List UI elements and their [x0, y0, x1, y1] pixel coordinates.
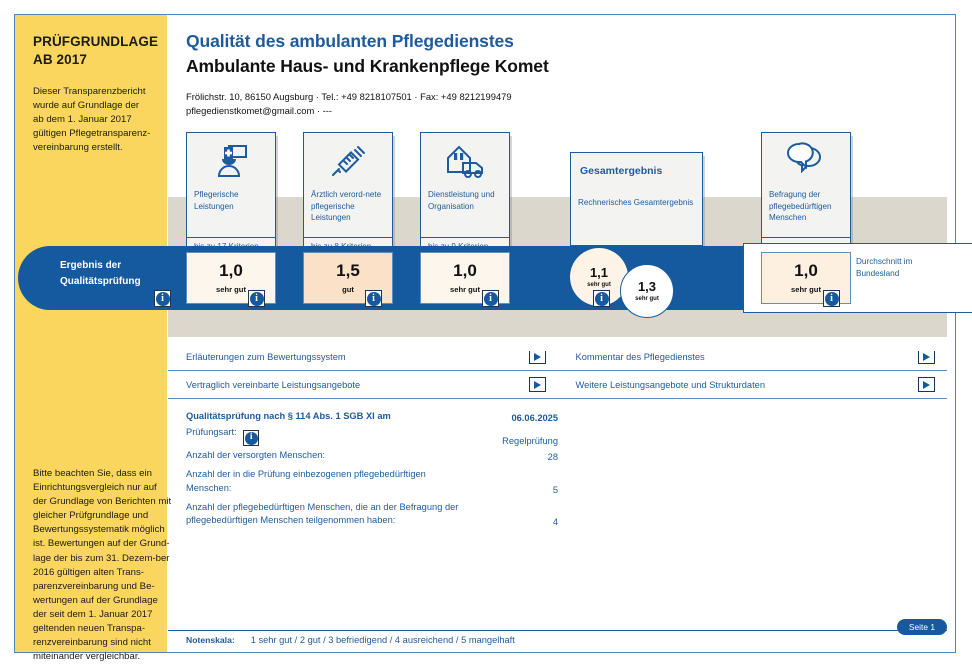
- result-bar-label: Ergebnis der Qualitätsprüfung: [60, 258, 180, 290]
- category-card-dienstleistung[interactable]: Dienstleistung und Organisation bis zu 9…: [420, 132, 510, 256]
- email-line: pflegedienstkomet@gmail.com · ---: [186, 104, 957, 118]
- score-value: 1,0: [453, 262, 477, 279]
- sidebar-title-line2: AB 2017: [33, 51, 151, 69]
- overall-value: 1,1: [590, 266, 608, 279]
- info-icon-bar[interactable]: i: [154, 290, 171, 307]
- house-van-icon: [421, 133, 509, 189]
- info-glyph: i: [595, 292, 609, 306]
- info-glyph: i: [156, 292, 170, 306]
- card-label: Ärztlich verord-nete pflegerische Leistu…: [304, 189, 392, 237]
- sidebar-title-line1: PRÜFGRUNDLAGE: [33, 33, 151, 51]
- sidebar-title: PRÜFGRUNDLAGE AB 2017: [33, 33, 151, 69]
- info-icon-pruefungsart[interactable]: i: [243, 430, 259, 446]
- link-label: Erläuterungen zum Bewertungssystem: [186, 352, 529, 362]
- detail-key: Anzahl der in die Prüfung einbezogenen p…: [186, 468, 466, 494]
- table-row: Qualitätsprüfung nach § 114 Abs. 1 SGB X…: [186, 410, 558, 423]
- info-glyph: i: [484, 292, 498, 306]
- page-badge: Seite 1: [897, 619, 947, 635]
- table-row: Anzahl der pflegebedürftigen Menschen, d…: [186, 501, 558, 527]
- category-card-pflegerische[interactable]: Pflegerische Leistungen bis zu 17 Kriter…: [186, 132, 276, 256]
- average-value: 1,3: [638, 280, 656, 293]
- white-gap: [168, 337, 947, 351]
- report-header: Qualität des ambulanten Pflegedienstes A…: [168, 15, 957, 118]
- detail-value: 5: [466, 485, 558, 495]
- score-value: 1,5: [336, 262, 360, 279]
- info-glyph: i: [825, 292, 839, 306]
- info-glyph: i: [245, 432, 258, 445]
- table-row: Anzahl der in die Prüfung einbezogenen p…: [186, 468, 558, 494]
- detail-value: 06.06.2025: [466, 413, 558, 423]
- category-card-aerztlich[interactable]: Ärztlich verord-nete pflegerische Leistu…: [303, 132, 393, 256]
- info-glyph: i: [367, 292, 381, 306]
- category-card-befragung[interactable]: Befragung der pflegebedürftigen Menschen…: [761, 132, 851, 256]
- average-grade: sehr gut: [635, 296, 659, 302]
- card-label: Befragung der pflegebedürftigen Menschen: [762, 189, 850, 237]
- play-icon[interactable]: [918, 377, 935, 392]
- provider-address: Frölichstr. 10, 86150 Augsburg · Tel.: +…: [186, 90, 957, 118]
- detail-key: Anzahl der pflegebedürftigen Menschen, d…: [186, 501, 466, 527]
- detail-value: 28: [466, 452, 558, 462]
- detail-key: Prüfungsart:: [186, 427, 237, 437]
- link-weitere[interactable]: Weitere Leistungsangebote und Strukturda…: [558, 377, 948, 392]
- link-label: Vertraglich vereinbarte Leistungsangebot…: [186, 380, 529, 390]
- footer-label: Notenskala:: [186, 635, 235, 645]
- address-line: Frölichstr. 10, 86150 Augsburg · Tel.: +…: [186, 90, 957, 104]
- score-grade: sehr gut: [450, 285, 480, 294]
- link-label: Kommentar des Pflegedienstes: [576, 352, 919, 362]
- play-icon[interactable]: [529, 349, 546, 364]
- footer: Notenskala: 1 sehr gut / 2 gut / 3 befri…: [168, 630, 947, 645]
- info-icon-score-1[interactable]: i: [248, 290, 265, 307]
- speech-bubbles-icon: [762, 133, 850, 189]
- play-icon[interactable]: [529, 377, 546, 392]
- nurse-icon: [187, 133, 275, 189]
- info-glyph: i: [250, 292, 264, 306]
- info-icon-score-4[interactable]: i: [823, 290, 840, 307]
- average-label: Durchschnitt im Bundesland: [856, 256, 952, 280]
- card-title: Gesamtergebnis: [571, 153, 702, 177]
- details-table: Qualitätsprüfung nach § 114 Abs. 1 SGB X…: [168, 410, 568, 527]
- results-band-zone: Pflegerische Leistungen bis zu 17 Kriter…: [168, 124, 957, 342]
- score-grade: gut: [342, 285, 354, 294]
- table-row: Prüfungsart: i Regelprüfung: [186, 426, 558, 446]
- link-vertraglich[interactable]: Vertraglich vereinbarte Leistungsangebot…: [168, 377, 558, 392]
- syringe-icon: [304, 133, 392, 189]
- detail-key-wrap: Prüfungsart: i: [186, 426, 466, 446]
- sidebar-panel: PRÜFGRUNDLAGE AB 2017 Dieser Transparenz…: [15, 15, 167, 652]
- card-label: Pflegerische Leistungen: [187, 189, 275, 237]
- score-grade: sehr gut: [216, 285, 246, 294]
- overall-grade: sehr gut: [587, 282, 611, 288]
- detail-value: Regelprüfung: [466, 436, 558, 446]
- sidebar-note-text: Bitte beachten Sie, dass ein Einrichtung…: [33, 467, 173, 664]
- info-icon-score-3[interactable]: i: [482, 290, 499, 307]
- link-kommentar[interactable]: Kommentar des Pflegedienstes: [558, 349, 948, 364]
- page-title: Qualität des ambulanten Pflegedienstes: [186, 31, 957, 52]
- detail-key: Qualitätsprüfung nach § 114 Abs. 1 SGB X…: [186, 410, 466, 423]
- sidebar-intro-text: Dieser Transparenzbericht wurde auf Grun…: [33, 85, 151, 155]
- footer-scale: 1 sehr gut / 2 gut / 3 befriedigend / 4 …: [251, 635, 515, 645]
- table-row: Anzahl der versorgten Menschen: 28: [186, 449, 558, 462]
- play-icon[interactable]: [918, 349, 935, 364]
- info-icon-overall[interactable]: i: [593, 290, 610, 307]
- link-row: Vertraglich vereinbarte Leistungsangebot…: [168, 370, 947, 399]
- info-icon-score-2[interactable]: i: [365, 290, 382, 307]
- card-label: Rechnerisches Gesamtergebnis: [571, 177, 702, 245]
- score-value: 1,0: [794, 262, 818, 279]
- page-subtitle: Ambulante Haus- und Krankenpflege Komet: [186, 56, 957, 77]
- score-value: 1,0: [219, 262, 243, 279]
- card-label: Dienstleistung und Organisation: [421, 189, 509, 237]
- link-erlaeuterungen[interactable]: Erläuterungen zum Bewertungssystem: [168, 349, 558, 364]
- average-result-circle[interactable]: 1,3 sehr gut: [620, 264, 674, 318]
- score-grade: sehr gut: [791, 285, 821, 294]
- content-area: Qualität des ambulanten Pflegedienstes A…: [168, 15, 957, 653]
- link-label: Weitere Leistungsangebote und Strukturda…: [576, 380, 919, 390]
- detail-key: Anzahl der versorgten Menschen:: [186, 449, 466, 462]
- detail-value: 4: [466, 517, 558, 527]
